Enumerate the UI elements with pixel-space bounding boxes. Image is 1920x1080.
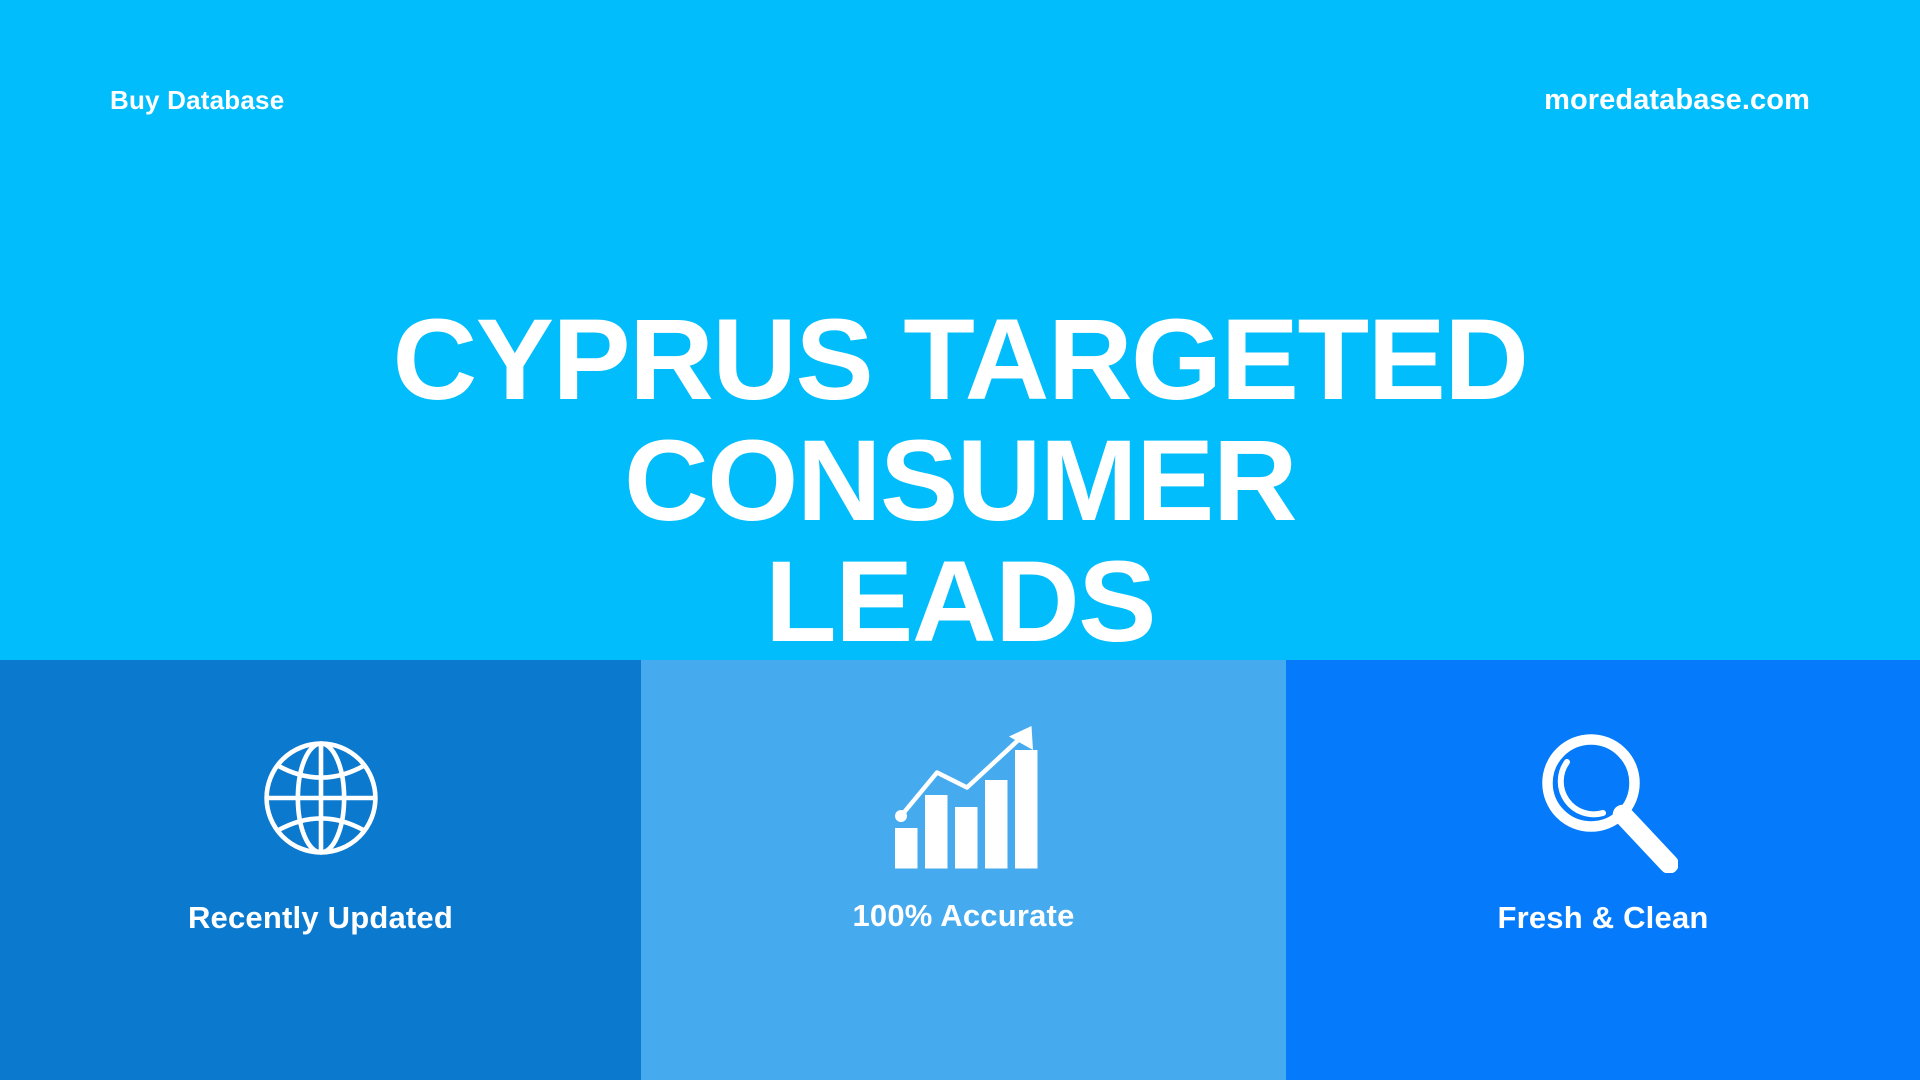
feature-card-accurate: 100% Accurate (641, 660, 1286, 1080)
page-title: CYPRUS TARGETED CONSUMER LEADS (42, 300, 1878, 662)
feature-card-fresh-clean: Fresh & Clean (1286, 660, 1920, 1080)
bar-chart-growth-icon (889, 718, 1039, 878)
page-title-line-2: LEADS (765, 538, 1155, 666)
brand-name-left: Buy Database (110, 85, 284, 116)
website-url: moredatabase.com (1544, 84, 1810, 117)
feature-strip: Recently Updated (0, 660, 1920, 1080)
feature-label-fresh-clean: Fresh & Clean (1497, 900, 1708, 936)
feature-card-recently-updated: Recently Updated (0, 660, 641, 1080)
globe-icon (253, 718, 389, 878)
page-title-line-1: CYPRUS TARGETED CONSUMER (393, 296, 1528, 545)
feature-label-accurate: 100% Accurate (852, 898, 1074, 934)
hero-section: CYPRUS TARGETED CONSUMER LEADS (0, 300, 1920, 662)
magnifying-glass-icon (1528, 718, 1678, 878)
banner-topbar: Buy Database moredatabase.com (0, 0, 1920, 200)
feature-label-recently-updated: Recently Updated (188, 900, 453, 936)
promo-banner: Buy Database moredatabase.com CYPRUS TAR… (0, 0, 1920, 1080)
